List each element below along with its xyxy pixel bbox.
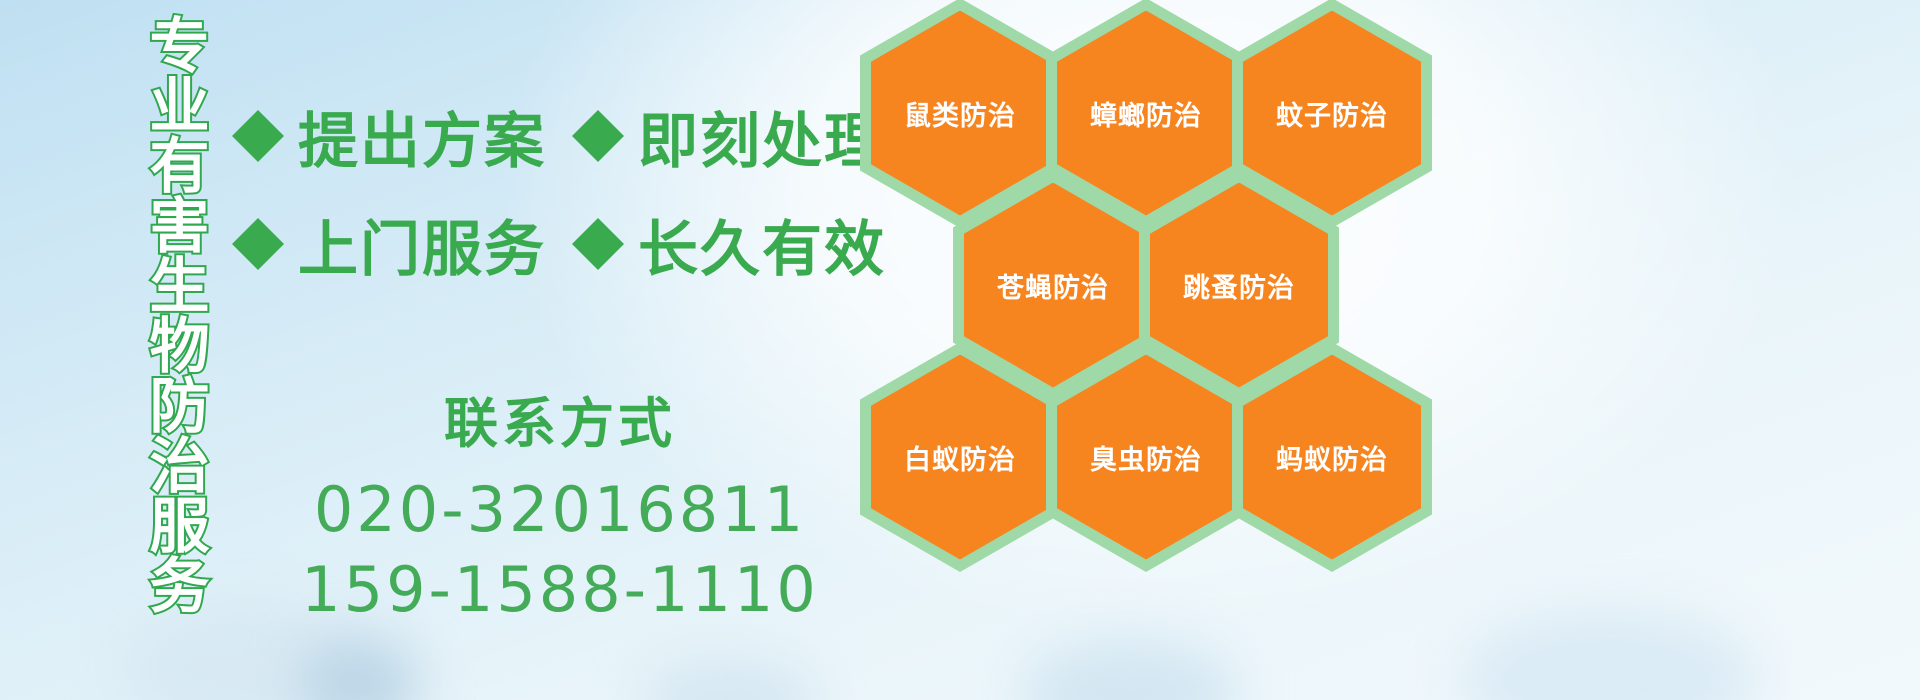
background-bokeh-blob	[640, 660, 820, 700]
contact-phone-landline[interactable]: 020-32016811	[260, 470, 860, 550]
feature-item-propose-plan: 提出方案	[232, 93, 546, 180]
feature-label: 提出方案	[298, 93, 546, 180]
service-hex-label: 苍蝇防治	[997, 266, 1109, 305]
vertical-headline: 专业有害生物防治服务	[110, 14, 206, 614]
hex-inner: 苍蝇防治	[964, 183, 1142, 388]
hex-inner: 蟑螂防治	[1057, 11, 1235, 216]
service-hex-label: 蟑螂防治	[1090, 94, 1202, 133]
service-hexagon-grid: 鼠类防治 蟑螂防治 蚊子防治 苍蝇防治 跳蚤防治 白蚁防治	[856, 0, 1476, 550]
diamond-bullet-icon	[572, 84, 624, 136]
feature-item-immediate-handling: 即刻处理	[572, 93, 886, 180]
service-hex-label: 蚂蚁防治	[1276, 438, 1388, 477]
diamond-bullet-icon	[572, 192, 624, 244]
hex-inner: 蚂蚁防治	[1243, 355, 1421, 560]
diamond-bullet-icon	[232, 192, 284, 244]
hex-inner: 蚊子防治	[1243, 11, 1421, 216]
pest-control-promo-banner: 专业有害生物防治服务 提出方案 即刻处理 上门服务 长久有效 联系方式	[0, 0, 1920, 700]
feature-item-long-lasting-effect: 长久有效	[572, 201, 886, 288]
hex-inner: 臭虫防治	[1057, 355, 1235, 560]
service-hex-label: 鼠类防治	[904, 94, 1016, 133]
service-hex-label: 白蚁防治	[904, 438, 1016, 477]
feature-item-on-site-service: 上门服务	[232, 201, 546, 288]
hex-inner: 跳蚤防治	[1150, 183, 1328, 388]
contact-phone-mobile[interactable]: 159-1588-1110	[260, 550, 860, 630]
feature-row: 上门服务 长久有效	[232, 190, 872, 298]
feature-list: 提出方案 即刻处理 上门服务 长久有效	[232, 82, 872, 298]
service-hex-label: 臭虫防治	[1090, 438, 1202, 477]
hex-inner: 鼠类防治	[871, 11, 1049, 216]
feature-label: 长久有效	[638, 201, 886, 288]
background-bokeh-blob	[300, 640, 420, 700]
diamond-bullet-icon	[232, 84, 284, 136]
feature-label: 即刻处理	[638, 93, 886, 180]
hex-inner: 白蚁防治	[871, 355, 1049, 560]
contact-block: 联系方式 020-32016811 159-1588-1110	[260, 392, 860, 630]
contact-title: 联系方式	[260, 392, 860, 456]
feature-row: 提出方案 即刻处理	[232, 82, 872, 190]
background-bokeh-blob	[1460, 610, 1760, 700]
background-bokeh-blob	[1020, 640, 1240, 700]
service-hex-label: 蚊子防治	[1276, 94, 1388, 133]
feature-label: 上门服务	[298, 201, 546, 288]
service-hex-label: 跳蚤防治	[1183, 266, 1295, 305]
